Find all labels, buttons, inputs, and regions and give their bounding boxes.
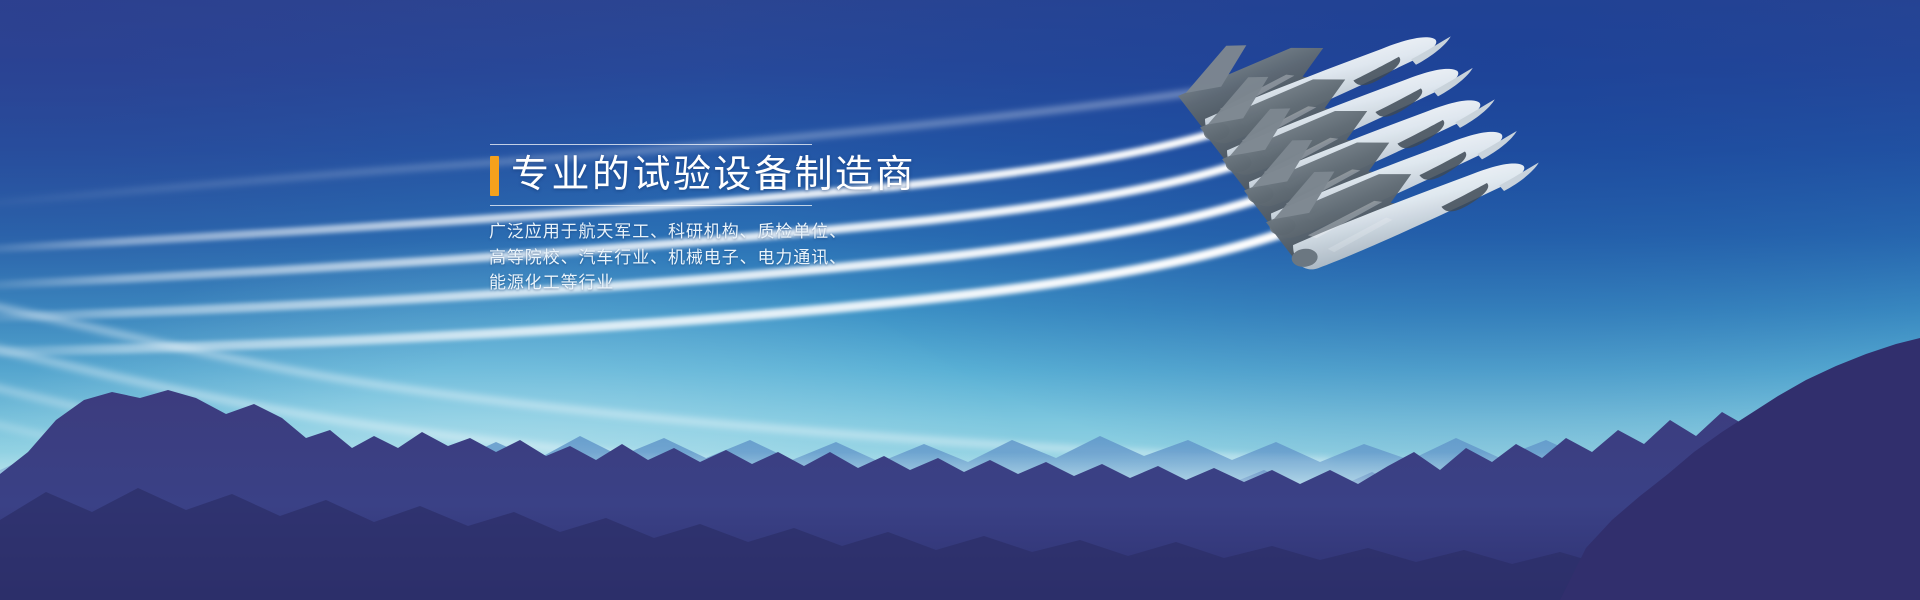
headline-rule-bottom xyxy=(490,205,812,206)
hero-banner: 专业的试验设备制造商 广泛应用于航天军工、科研机构、质检单位、 高等院校、汽车行… xyxy=(0,0,1920,600)
page-title: 专业的试验设备制造商 xyxy=(511,145,916,205)
headline-row: 专业的试验设备制造商 xyxy=(489,145,959,205)
subtitle-line-1: 广泛应用于航天军工、科研机构、质检单位、 xyxy=(489,219,959,245)
subtitle-block: 广泛应用于航天军工、科研机构、质检单位、 高等院校、汽车行业、机械电子、电力通讯… xyxy=(489,219,959,296)
accent-bar xyxy=(490,156,499,196)
mountain-silhouettes xyxy=(0,0,1920,600)
subtitle-line-3: 能源化工等行业 xyxy=(489,270,959,296)
banner-copy: 专业的试验设备制造商 广泛应用于航天军工、科研机构、质检单位、 高等院校、汽车行… xyxy=(489,144,959,296)
subtitle-line-2: 高等院校、汽车行业、机械电子、电力通讯、 xyxy=(489,245,959,271)
